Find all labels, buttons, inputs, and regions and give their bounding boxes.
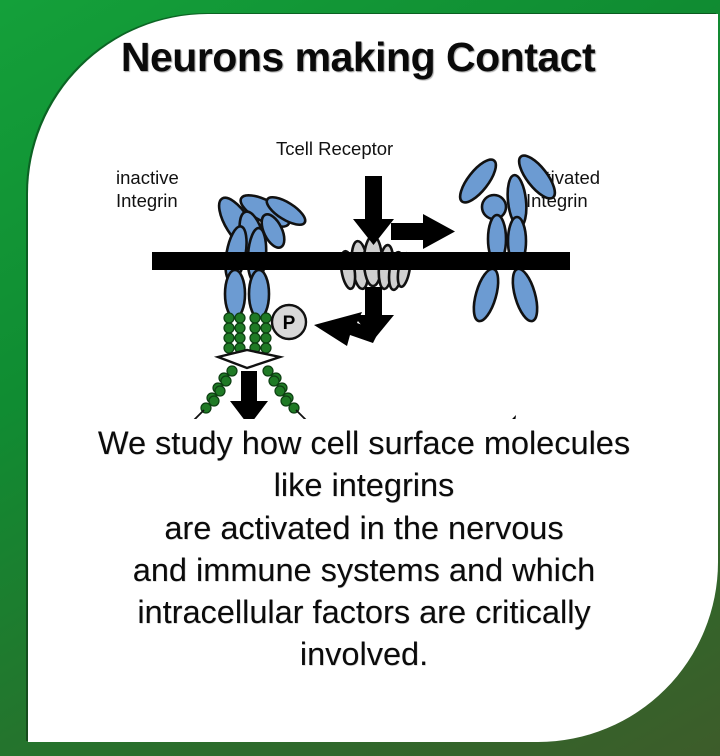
body-line-1: We study how cell surface molecules [28,422,700,464]
activated-integrin-glyph [454,150,561,323]
talin-bead-chains [224,313,271,353]
body-line-2: like integrins [28,464,700,506]
diagonal-arrow-to-activated [478,415,528,419]
slide-background: Neurons making Contact Tcell Receptor in… [0,0,720,756]
svg-text:P: P [283,313,296,334]
down-arrow-to-receptor [353,176,394,245]
integrin-activation-diagram: Tcell Receptor inactiveIntegrin activate… [28,119,718,419]
right-arrow-activation [391,214,455,249]
down-arrow-actin [230,371,268,419]
body-line-6: involved. [28,633,700,675]
body-text: We study how cell surface molecules like… [28,422,700,676]
body-line-3: are activated in the nervous [28,507,700,549]
body-line-4: and immune systems and which [28,549,700,591]
slide-card: Neurons making Contact Tcell Receptor in… [28,14,718,742]
page-title: Neurons making Contact [28,34,688,81]
phosphate-badge: P [272,305,306,339]
body-line-5: intracellular factors are critically [28,591,700,633]
plasma-membrane-bar [152,252,570,270]
